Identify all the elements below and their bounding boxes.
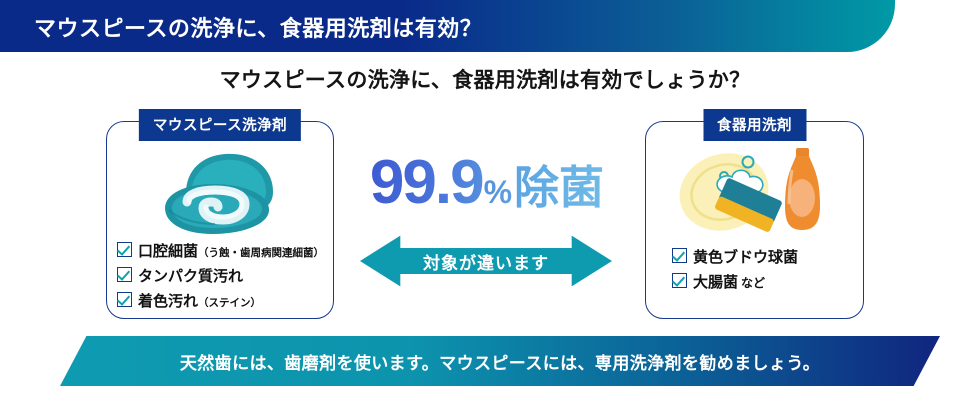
list-item: 黄色ブドウ球菌 [672,246,798,267]
mouthguard-case-icon [147,148,295,245]
list-item-main: 着色汚れ [138,293,198,310]
list-item-sub: （う蝕・歯周病関連細菌） [198,247,324,259]
subtitle-question: マウスピースの洗浄に、食器用洗剤は有効でしょうか？ [0,64,970,94]
list-item: 着色汚れ（ステイン） [117,290,324,311]
header-bar: マウスピースの洗浄に、食器用洗剤は有効？ [0,0,895,52]
checkbox-icon [117,292,132,307]
infographic-root: マウスピースの洗浄に、食器用洗剤は有効？ マウスピースの洗浄に、食器用洗剤は有効… [0,0,970,416]
checkbox-icon [117,242,132,257]
bottom-banner-text: 天然歯には、歯磨剤を使います。マウスピースには、専用洗浄剤を勧めましょう。 [60,336,940,386]
disinfection-stat: 99.9 % 除菌 [342,152,632,214]
list-item-main: タンパク質汚れ [138,268,243,285]
stat-number: 99.9 [370,152,483,214]
list-item-text: 着色汚れ（ステイン） [138,290,261,311]
bottom-banner-text-layer: 天然歯には、歯磨剤を使います。マウスピースには、専用洗浄剤を勧めましょう。 [60,336,940,386]
list-item-main: 大腸菌 [693,274,738,291]
page-title: マウスピースの洗浄に、食器用洗剤は有効？ [34,11,482,43]
panel-dish-detergent: 食器用洗剤 [645,121,864,319]
panel-left-badge: マウスピース洗浄剤 [139,109,301,141]
list-item: 口腔細菌（う蝕・歯周病関連細菌） [117,240,324,261]
list-item: 大腸菌など [672,271,798,292]
list-item-text: タンパク質汚れ [138,265,243,286]
arrow-label: 対象が違います [360,234,612,288]
checkbox-icon [117,267,132,282]
list-item: タンパク質汚れ [117,265,324,286]
list-item-text: 黄色ブドウ球菌 [693,246,798,267]
checklist-right: 黄色ブドウ球菌 大腸菌など [672,246,798,296]
checkbox-icon [672,248,687,263]
list-item-main: 黄色ブドウ球菌 [693,249,798,266]
panel-mouthpiece-cleaner: マウスピース洗浄剤 口腔細菌（う蝕・歯周病関連細菌） [106,121,334,319]
panel-right-badge: 食器用洗剤 [703,109,806,141]
stat-percent: % [484,176,512,208]
dish-sponge-detergent-icon [672,140,842,245]
list-item-note: など [741,276,765,290]
list-item-sub: （ステイン） [198,297,261,309]
checkbox-icon [672,273,687,288]
stat-word: 除菌 [514,165,604,210]
list-item-text: 大腸菌など [693,271,765,292]
checklist-left: 口腔細菌（う蝕・歯周病関連細菌） タンパク質汚れ 着色汚れ（ステイン） [117,240,324,315]
list-item-main: 口腔細菌 [138,243,198,260]
list-item-text: 口腔細菌（う蝕・歯周病関連細菌） [138,240,324,261]
double-arrow-banner: 対象が違います [360,234,612,288]
